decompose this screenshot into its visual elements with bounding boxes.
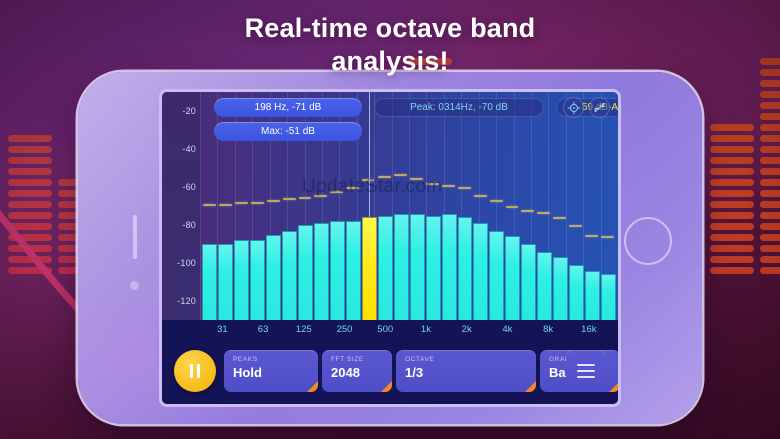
control-fft-size-value: 2048 bbox=[331, 365, 383, 380]
pause-button[interactable] bbox=[174, 350, 216, 392]
screenshot-root: UpdateStar.com -20-40-60-80-100-120 198 … bbox=[0, 0, 780, 439]
phone-device: UpdateStar.com -20-40-60-80-100-120 198 … bbox=[78, 72, 702, 424]
x-axis-label: 250 bbox=[337, 324, 353, 335]
x-axis: 31631252505001k2k4k8k16k bbox=[162, 320, 618, 340]
pause-bar-right bbox=[197, 364, 201, 378]
control-peaks-value: Hold bbox=[233, 365, 309, 380]
control-bar: PEAKS Hold FFT SIZE 2048 OCTAVE 1/3 GRAP… bbox=[162, 340, 618, 404]
x-axis-label: 500 bbox=[377, 324, 393, 335]
peak-hold-marker bbox=[490, 200, 503, 202]
peak-hold-marker bbox=[251, 202, 264, 204]
control-corner-marker bbox=[609, 381, 618, 392]
cursor-line bbox=[369, 92, 370, 217]
y-axis: -20-40-60-80-100-120 bbox=[162, 92, 200, 320]
control-octave-value: 1/3 bbox=[405, 365, 527, 380]
menu-line bbox=[577, 364, 595, 367]
x-axis-label: 1k bbox=[421, 324, 431, 335]
page-title-line1: Real-time octave band bbox=[0, 12, 780, 45]
peak-hold-marker bbox=[553, 217, 566, 219]
y-axis-label: -20 bbox=[182, 106, 196, 116]
peak-hold-marker bbox=[203, 204, 216, 206]
phone-home-button[interactable] bbox=[624, 217, 672, 265]
x-axis-label: 63 bbox=[258, 324, 269, 335]
phone-camera-dot bbox=[130, 281, 139, 290]
x-axis-label: 4k bbox=[502, 324, 512, 335]
spectrum-chart[interactable]: UpdateStar.com -20-40-60-80-100-120 198 … bbox=[162, 92, 618, 320]
peak-hold-marker bbox=[442, 185, 455, 187]
x-axis-label: 16k bbox=[581, 324, 596, 335]
phone-speaker bbox=[133, 215, 137, 259]
control-corner-marker bbox=[525, 381, 536, 392]
page-title-line2: analysis! bbox=[0, 45, 780, 78]
control-peaks-caption: PEAKS bbox=[233, 356, 309, 363]
control-corner-marker bbox=[307, 381, 318, 392]
y-axis-label: -120 bbox=[177, 296, 196, 306]
control-corner-marker bbox=[381, 381, 392, 392]
page-title: Real-time octave band analysis! bbox=[0, 12, 780, 78]
peak-hold-marker bbox=[235, 202, 248, 204]
cursor-readout-pill[interactable]: 198 Hz, -71 dB bbox=[214, 98, 362, 117]
max-readout-pill[interactable]: Max: -51 dB bbox=[214, 122, 362, 141]
peak-hold-marker bbox=[537, 212, 550, 214]
y-axis-label: -100 bbox=[177, 258, 196, 268]
menu-line bbox=[577, 376, 595, 379]
x-axis-label: 8k bbox=[543, 324, 553, 335]
control-peaks[interactable]: PEAKS Hold bbox=[224, 350, 318, 392]
x-axis-label: 2k bbox=[462, 324, 472, 335]
expand-arrows-icon[interactable] bbox=[589, 97, 610, 118]
x-axis-label: 125 bbox=[296, 324, 312, 335]
x-axis-label: 31 bbox=[217, 324, 228, 335]
peak-hold-marker bbox=[601, 236, 614, 238]
crosshair-icon[interactable] bbox=[563, 97, 584, 118]
peak-hold-marker bbox=[458, 187, 471, 189]
peak-readout-pill[interactable]: Peak: 0314Hz, -70 dB bbox=[374, 98, 544, 117]
y-axis-label: -60 bbox=[182, 182, 196, 192]
peak-hold-marker bbox=[506, 206, 519, 208]
peak-hold-marker bbox=[219, 204, 232, 206]
control-octave[interactable]: OCTAVE 1/3 bbox=[396, 350, 536, 392]
watermark-text: UpdateStar.com bbox=[302, 176, 442, 198]
control-fft-size[interactable]: FFT SIZE 2048 bbox=[322, 350, 392, 392]
peak-hold-marker bbox=[474, 195, 487, 197]
peak-hold-marker bbox=[267, 200, 280, 202]
peak-hold-marker bbox=[585, 235, 598, 237]
menu-line bbox=[577, 370, 595, 373]
y-axis-label: -80 bbox=[182, 220, 196, 230]
peak-hold-marker bbox=[569, 225, 582, 227]
control-octave-caption: OCTAVE bbox=[405, 356, 527, 363]
phone-screen: UpdateStar.com -20-40-60-80-100-120 198 … bbox=[162, 92, 618, 404]
hamburger-menu-icon[interactable] bbox=[566, 350, 606, 392]
peak-hold-marker bbox=[283, 198, 296, 200]
control-fft-size-caption: FFT SIZE bbox=[331, 356, 383, 363]
peak-hold-marker bbox=[521, 210, 534, 212]
y-axis-label: -40 bbox=[182, 144, 196, 154]
